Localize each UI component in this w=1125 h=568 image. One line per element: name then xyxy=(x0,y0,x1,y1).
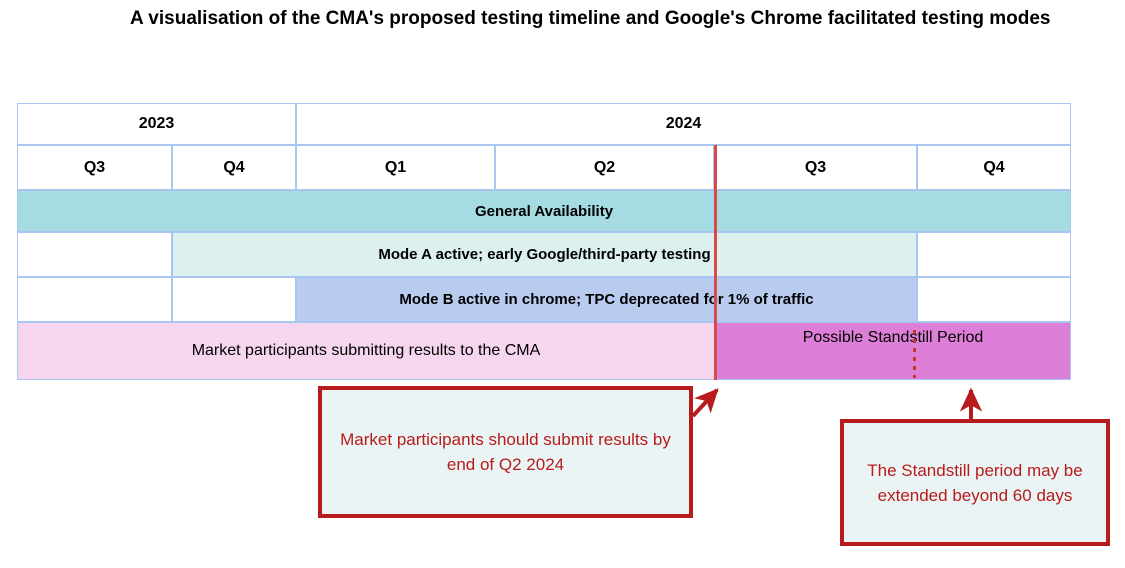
band-possible-standstill-period: Possible Standstill Period xyxy=(715,322,1071,380)
band-general-availability: General Availability xyxy=(17,190,1071,232)
band-mode-a: Mode A active; early Google/third-party … xyxy=(172,232,917,277)
standstill-end-dotted-line xyxy=(913,330,916,378)
callout-submit-results: Market participants should submit result… xyxy=(318,386,693,518)
row-mode-b-empty-q4-2023 xyxy=(172,277,296,322)
year-header-2023: 2023 xyxy=(17,103,296,145)
row-mode-b-empty-right xyxy=(917,277,1071,322)
quarter-header-q3-2024: Q3 xyxy=(714,145,917,190)
quarter-header-q3-2023: Q3 xyxy=(17,145,172,190)
row-mode-a-empty-left xyxy=(17,232,172,277)
row-mode-b-empty-q3-2023 xyxy=(17,277,172,322)
band-mode-b: Mode B active in chrome; TPC deprecated … xyxy=(296,277,917,322)
quarter-header-q4-2023: Q4 xyxy=(172,145,296,190)
quarter-header-q2-2024: Q2 xyxy=(495,145,714,190)
page-title: A visualisation of the CMA's proposed te… xyxy=(10,6,1070,32)
year-header-2024: 2024 xyxy=(296,103,1071,145)
q2-deadline-marker-line xyxy=(714,145,717,380)
row-mode-a-empty-right xyxy=(917,232,1071,277)
callout-standstill-extension: The Standstill period may be extended be… xyxy=(840,419,1110,546)
quarter-header-q4-2024: Q4 xyxy=(917,145,1071,190)
band-market-participants: Market participants submitting results t… xyxy=(17,322,715,380)
quarter-header-q1-2024: Q1 xyxy=(296,145,495,190)
